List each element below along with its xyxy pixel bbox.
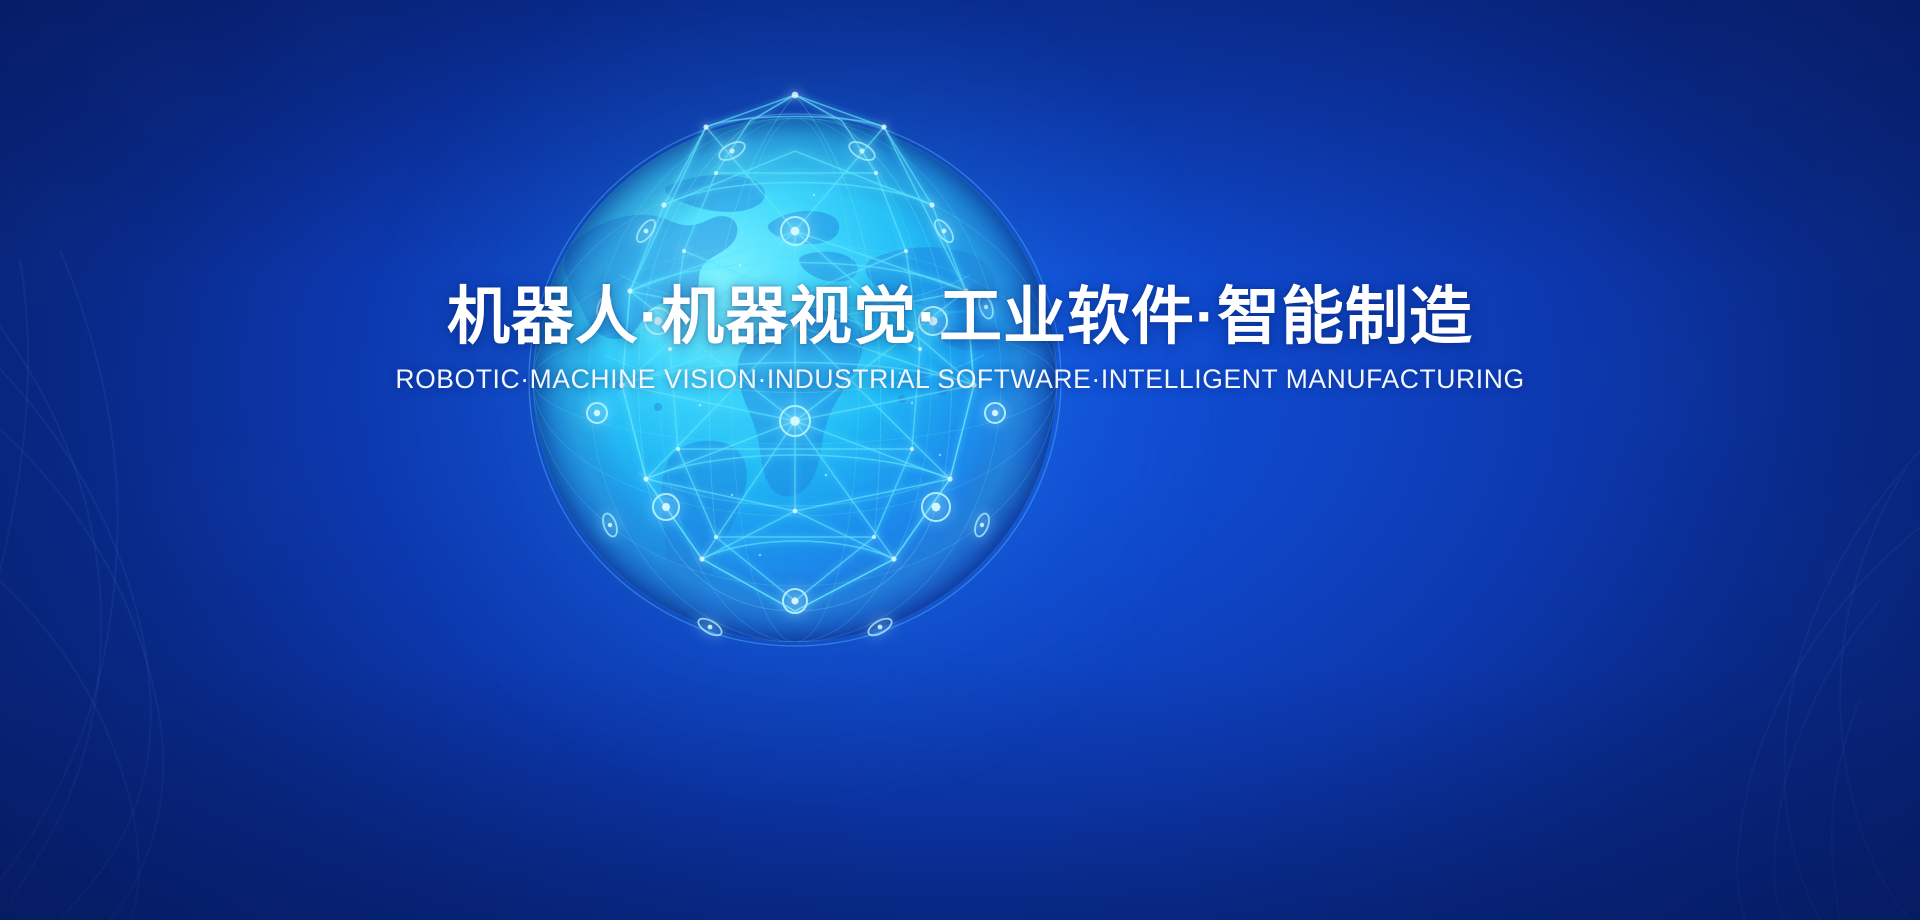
- network-globe: [470, 55, 1120, 705]
- hero-banner: 机器人·机器视觉·工业软件·智能制造 ROBOTIC·MACHINE VISIO…: [0, 0, 1920, 920]
